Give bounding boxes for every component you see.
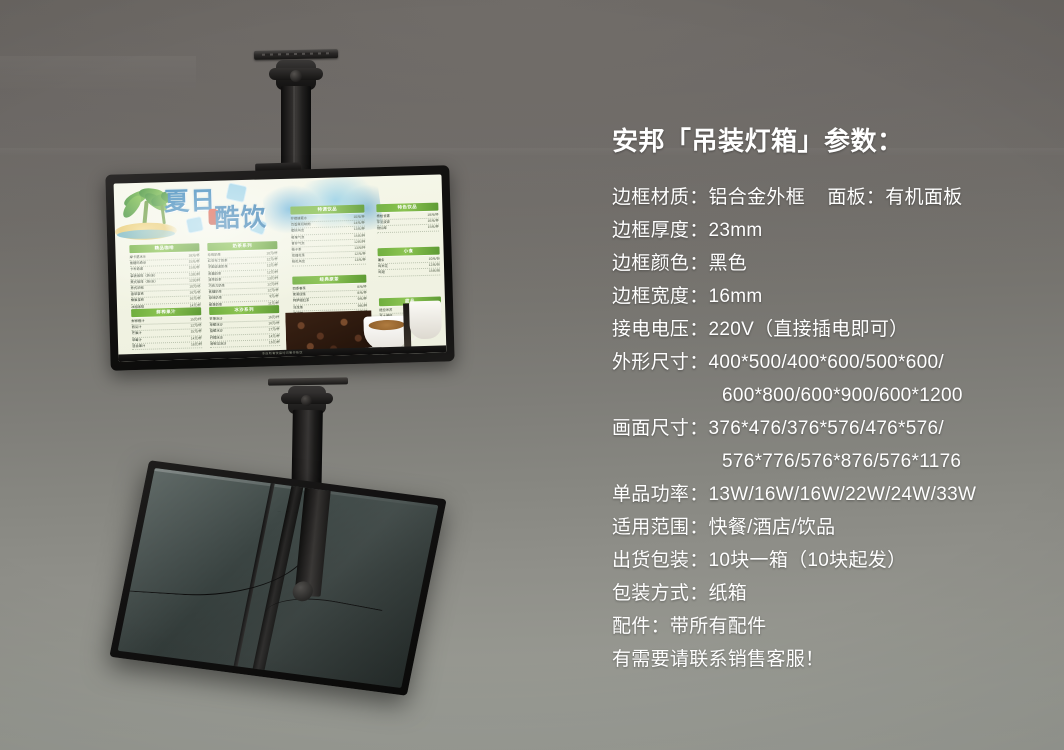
spec-line: 边框颜色：黑色 bbox=[612, 247, 1052, 280]
spec-line: 适用范围：快餐/酒店/饮品 bbox=[612, 511, 1052, 544]
spec-line: 画面尺寸：376*476/376*576/476*576/ bbox=[612, 412, 1052, 445]
spec-line: 600*800/600*900/600*1200 bbox=[612, 379, 1052, 412]
spec-line: 外形尺寸：400*500/400*600/500*600/ bbox=[612, 346, 1052, 379]
spec-line: 576*776/576*876/576*1176 bbox=[612, 445, 1052, 478]
spec-line-list: 边框材质：铝合金外框 面板：有机面板边框厚度：23mm边框颜色：黑色边框宽度：1… bbox=[612, 181, 1052, 676]
spec-line: 接电电压：220V（直接插电即可） bbox=[612, 313, 1052, 346]
spec-line: 有需要请联系销售客服！ bbox=[612, 643, 1052, 676]
spec-line: 边框厚度：23mm bbox=[612, 214, 1052, 247]
product-photo: 夏日 酷饮 精品咖啡摩卡星冰乐18元/杯焦糖玛奇朵15元/杯卡布奇诺15元/杯拿… bbox=[0, 0, 1064, 750]
spec-line: 单品功率：13W/16W/16W/22W/24W/33W bbox=[612, 478, 1052, 511]
spec-title: 安邦「吊装灯箱」参数： bbox=[612, 126, 1052, 157]
spec-line: 边框材质：铝合金外框 面板：有机面板 bbox=[612, 181, 1052, 214]
specification-panel: 安邦「吊装灯箱」参数： 边框材质：铝合金外框 面板：有机面板边框厚度：23mm边… bbox=[612, 126, 1052, 676]
spec-line: 边框宽度：16mm bbox=[612, 280, 1052, 313]
spec-line: 配件：带所有配件 bbox=[612, 610, 1052, 643]
spec-line: 包装方式：纸箱 bbox=[612, 577, 1052, 610]
spec-line: 出货包装：10块一箱（10块起发） bbox=[612, 544, 1052, 577]
